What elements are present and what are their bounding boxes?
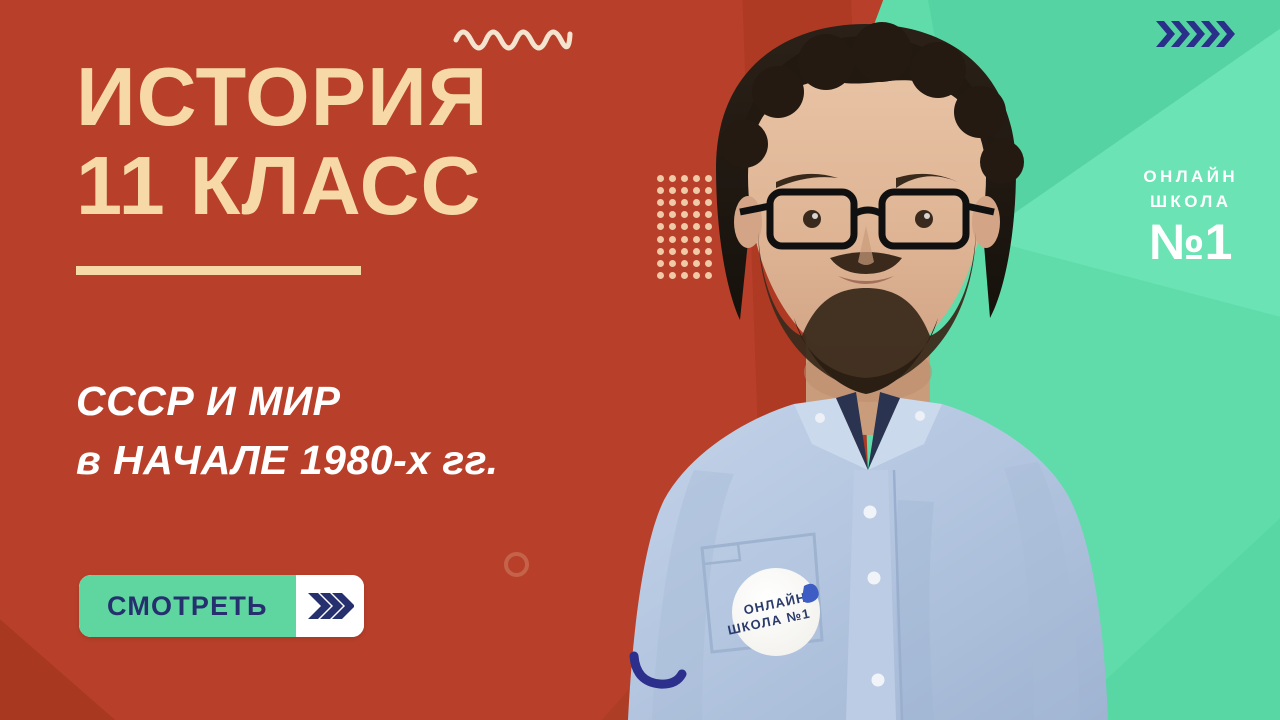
brand-line-1: ОНЛАЙН [1143,165,1238,190]
chevron-row-icon [1154,16,1238,52]
video-thumbnail: ОНЛАЙН ШКОЛА №1 [0,0,1280,720]
title-line-1: ИСТОРИЯ [76,58,696,137]
circle-outline-icon [504,552,529,577]
watch-button-arrow-zone[interactable] [296,575,364,637]
title-block: ИСТОРИЯ 11 КЛАСС [76,58,696,275]
subtitle-block: СССР И МИР в НАЧАЛЕ 1980-х гг. [76,372,686,491]
watch-button-label-zone[interactable]: СМОТРЕТЬ [79,575,296,637]
subtitle-line-2: в НАЧАЛЕ 1980-х гг. [76,431,686,490]
brand-logo: ОНЛАЙН ШКОЛА №1 [1143,165,1238,267]
title-line-2: 11 КЛАСС [76,147,696,226]
title-underline-rule [76,266,361,275]
watch-button-label: СМОТРЕТЬ [107,591,268,622]
brand-line-3: №1 [1143,217,1238,267]
subtitle-line-1: СССР И МИР [76,372,686,431]
watch-button[interactable]: СМОТРЕТЬ [79,575,364,637]
triple-chevron-right-icon [306,591,354,621]
brand-line-2: ШКОЛА [1143,190,1238,215]
